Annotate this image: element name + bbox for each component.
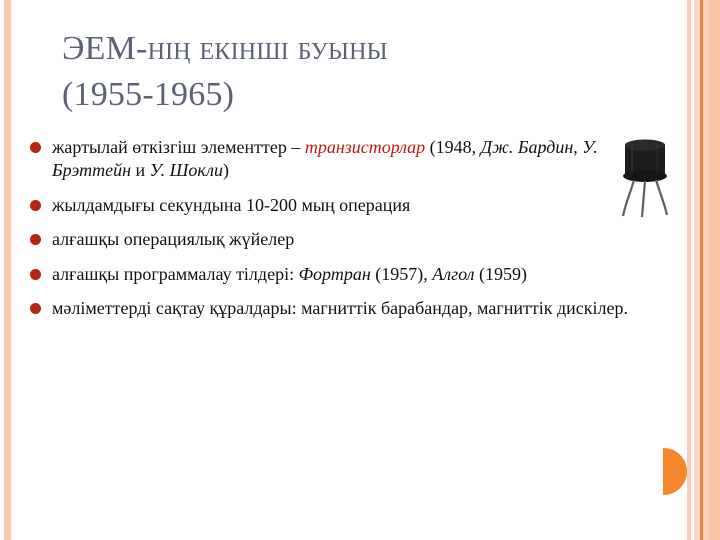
bullet-dot-icon [30, 142, 41, 153]
right-edge-stripe-1 [687, 0, 691, 540]
bullet-dot-icon [30, 200, 41, 211]
text-run: алғашқы операциялық жүйелер [52, 229, 294, 249]
bullet-text: жартылай өткізгіш элементтер – транзисто… [52, 136, 646, 183]
bullet-speed: жылдамдығы секундына 10-200 мың операция [26, 194, 646, 217]
bullet-text: мәліметтерді сақтау құралдары: магниттік… [52, 297, 646, 320]
bullet-dot-icon [30, 303, 41, 314]
bullet-dot-icon [30, 234, 41, 245]
bullet-text: алғашқы операциялық жүйелер [52, 228, 646, 251]
right-edge-stripe-5 [709, 0, 720, 540]
text-run: жартылай өткізгіш элементтер – [52, 137, 305, 157]
bullet-semiconductor: жартылай өткізгіш элементтер – транзисто… [26, 136, 646, 183]
bullet-dot-icon [30, 269, 41, 280]
emphasis-highlight: транзисторлар [305, 137, 425, 157]
text-run: (1948, [425, 137, 481, 157]
text-run: и [131, 160, 150, 180]
text-run: алғашқы программалау тілдері: [52, 264, 299, 284]
transistor-photo [612, 136, 678, 218]
bullet-text: жылдамдығы секундына 10-200 мың операция [52, 194, 646, 217]
text-run: мәліметтерді сақтау құралдары: магниттік… [52, 298, 628, 318]
emphasis-italic: Дж. Бардин [481, 137, 574, 157]
emphasis-italic: Алгол [432, 264, 474, 284]
slide-canvas: ЭЕМ-нің екінші буыны (1955-1965) жартыла… [0, 0, 720, 540]
text-run: (1957), [371, 264, 433, 284]
left-edge-stripe [4, 0, 11, 540]
text-run: , [573, 137, 582, 157]
text-run: (1959) [475, 264, 528, 284]
emphasis-italic: У. Шокли [150, 160, 223, 180]
bullet-os: алғашқы операциялық жүйелер [26, 228, 646, 251]
bullet-storage: мәліметтерді сақтау құралдары: магниттік… [26, 297, 646, 320]
bullet-languages: алғашқы программалау тілдері: Фортран (1… [26, 263, 646, 286]
text-run: ) [223, 160, 229, 180]
emphasis-italic: Фортран [299, 264, 371, 284]
slide-title: ЭЕМ-нің екінші буыны (1955-1965) [62, 26, 642, 118]
bullet-text: алғашқы программалау тілдері: Фортран (1… [52, 263, 646, 286]
bullet-list: жартылай өткізгіш элементтер – транзисто… [26, 136, 646, 331]
text-run: жылдамдығы секундына 10-200 мың операция [52, 195, 410, 215]
orange-halfdisc-accent [663, 448, 687, 495]
